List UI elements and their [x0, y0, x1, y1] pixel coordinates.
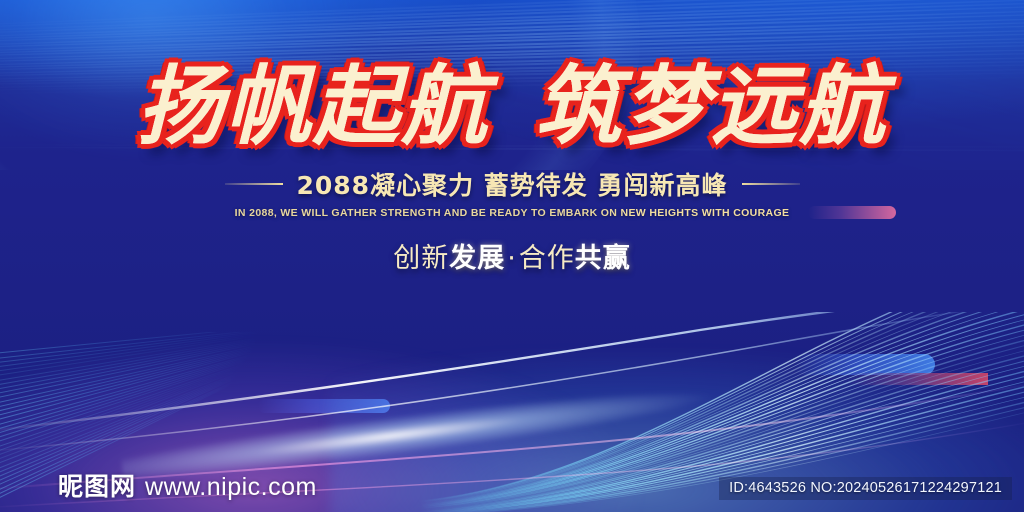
- rule-right-decor: [742, 183, 800, 185]
- watermark: 昵图网 www.nipic.com: [58, 467, 317, 503]
- title-block: 扬帆起航筑梦远航 2088凝心聚力 蓄势待发 勇闯新高峰 IN 2088, WE…: [0, 0, 1024, 275]
- subtitle-chinese: 2088凝心聚力 蓄势待发 勇闯新高峰: [297, 166, 728, 202]
- page-title: 扬帆起航筑梦远航: [0, 0, 1024, 150]
- rule-left-decor: [225, 183, 283, 185]
- subtitle-row: 2088凝心聚力 蓄势待发 勇闯新高峰: [0, 166, 1024, 202]
- title-part-2: 筑梦远航: [535, 57, 887, 157]
- poster-canvas: 扬帆起航筑梦远航 2088凝心聚力 蓄势待发 勇闯新高峰 IN 2088, WE…: [0, 0, 1024, 512]
- pink-pill-decor: [808, 206, 896, 219]
- footer-strip: 昵图网 www.nipic.com ID:4643526 NO:20240526…: [0, 460, 1024, 512]
- watermark-brand: 昵图网: [58, 467, 136, 503]
- slogan-part-a: 创新: [393, 243, 449, 274]
- title-part-1: 扬帆起航: [137, 57, 489, 157]
- slogan-part-b: 发展: [449, 243, 505, 274]
- watermark-url: www.nipic.com: [145, 473, 317, 502]
- status-badge: ID:4643526 NO:20240526171224297121: [719, 477, 1012, 500]
- subtitle-english-lead: IN 2088, WE WILL GATHER STRENGTH AND BE …: [235, 207, 621, 219]
- slogan-line: 创新发展·合作共赢: [0, 236, 1024, 275]
- slogan-part-d: 共赢: [575, 243, 631, 274]
- slogan-part-c: 合作: [519, 243, 575, 274]
- subtitle-english-tail: NEW HEIGHTS WITH COURAGE: [621, 207, 790, 219]
- slogan-separator: ·: [505, 243, 519, 274]
